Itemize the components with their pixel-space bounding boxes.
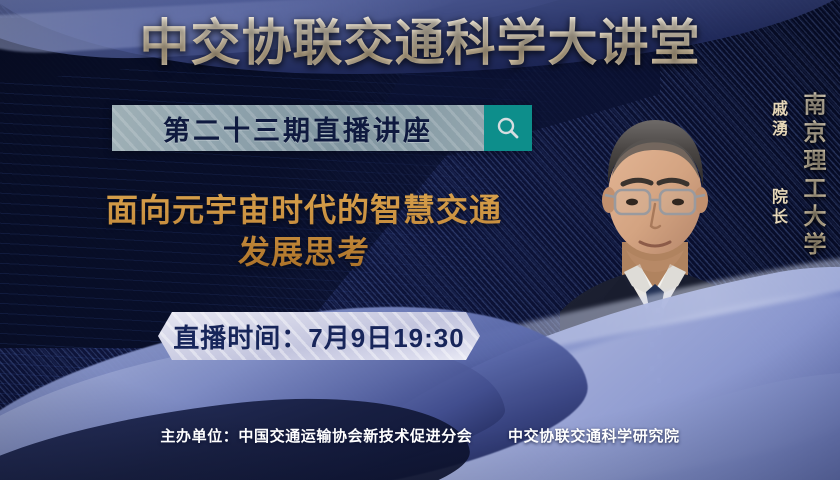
speaker-name: 戚湧 [767,100,786,140]
search-icon [495,115,521,141]
speaker-role: 院长 [767,188,786,228]
footer-organizer-primary: 主办单位：中国交通运输协会新技术促进分会 [160,428,472,445]
live-time-text: 直播时间：7月9日19:30 [173,318,464,355]
episode-label: 第二十三期直播讲座 [163,109,433,148]
footer-organizers: 主办单位：中国交通运输协会新技术促进分会 中交协联交通科学研究院 [0,425,840,446]
footer-organizer-secondary: 中交协联交通科学研究院 [508,428,680,445]
content-layer: 中交协联交通科学大讲堂 第二十三期直播讲座 面向元宇宙时代的智慧交通 发展思考 … [0,0,840,480]
page-title: 中交协联交通科学大讲堂 [0,16,840,71]
lecture-topic-line2: 发展思考 [54,232,554,274]
live-time-badge: 直播时间：7月9日19:30 [158,312,480,360]
lecture-topic: 面向元宇宙时代的智慧交通 发展思考 [54,190,554,273]
episode-banner-plate: 第二十三期直播讲座 [112,105,484,151]
poster-canvas: 中交协联交通科学大讲堂 第二十三期直播讲座 面向元宇宙时代的智慧交通 发展思考 … [0,0,840,480]
lecture-topic-line1: 面向元宇宙时代的智慧交通 [54,190,554,232]
episode-banner: 第二十三期直播讲座 [112,105,532,151]
speaker-organization: 南京理工大学 [799,92,826,260]
search-button[interactable] [484,105,532,151]
